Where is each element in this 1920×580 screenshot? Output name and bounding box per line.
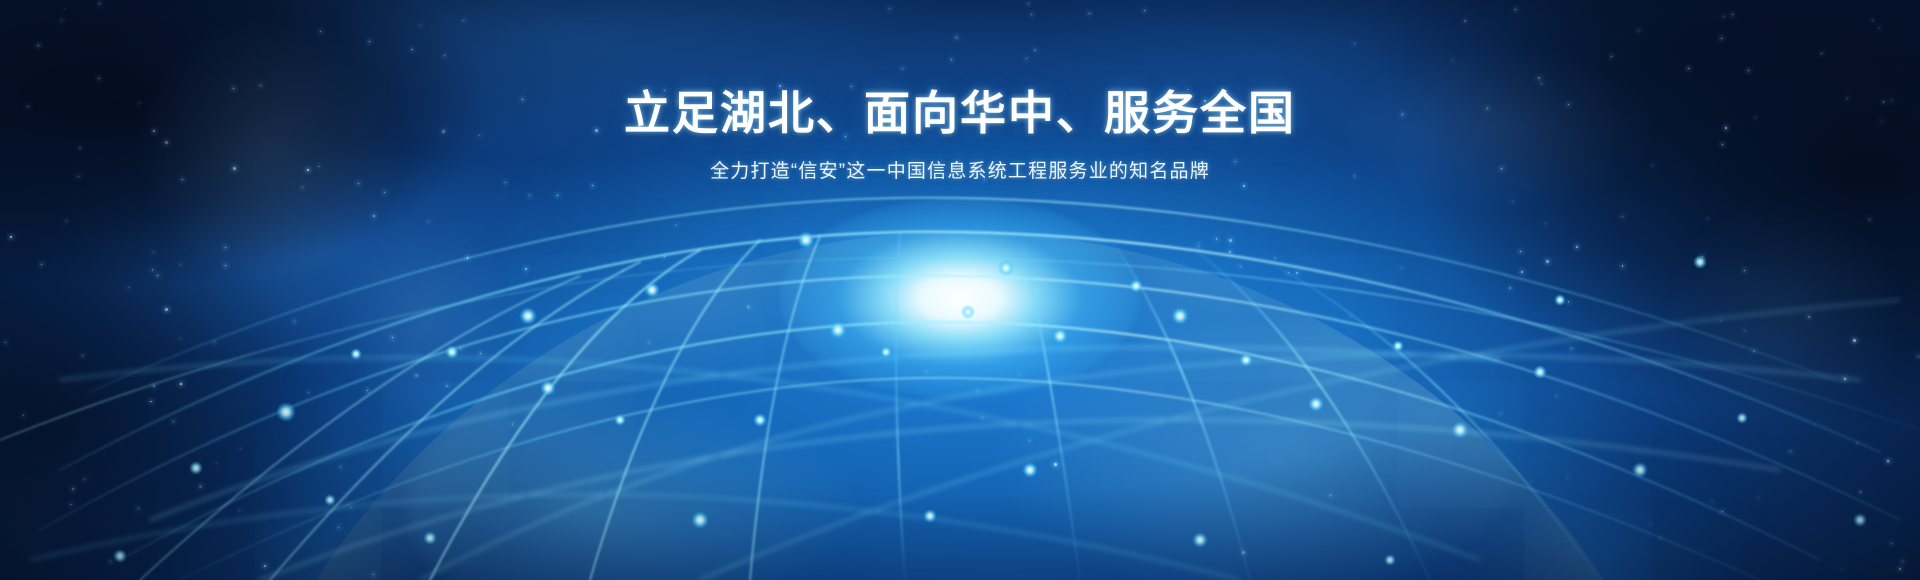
- banner-text-block: 立足湖北、面向华中、服务全国 全力打造“信安”这一中国信息系统工程服务业的知名品…: [0, 86, 1920, 183]
- banner-subline: 全力打造“信安”这一中国信息系统工程服务业的知名品牌: [0, 156, 1920, 183]
- hero-banner: 立足湖北、面向华中、服务全国 全力打造“信安”这一中国信息系统工程服务业的知名品…: [0, 0, 1920, 580]
- banner-headline: 立足湖北、面向华中、服务全国: [0, 86, 1920, 140]
